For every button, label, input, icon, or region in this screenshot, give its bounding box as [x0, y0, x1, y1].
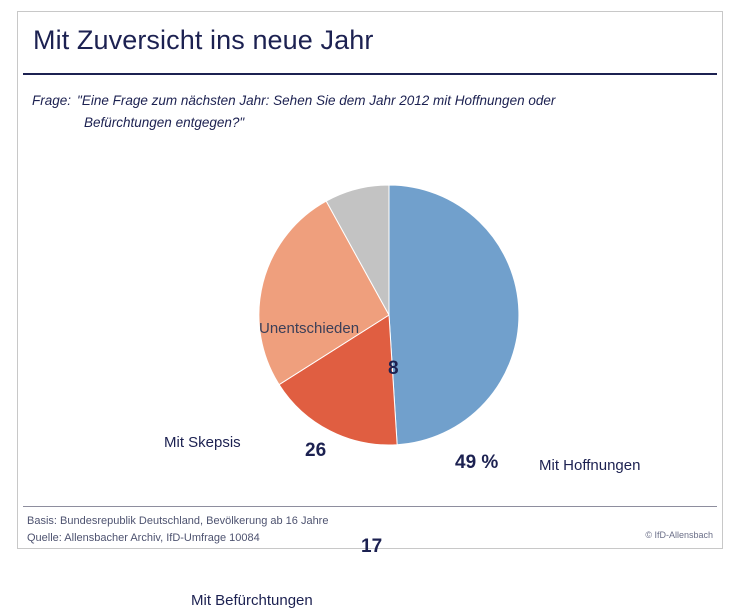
pie-graphic	[258, 184, 520, 446]
chart-card: Mit Zuversicht ins neue Jahr Frage:"Eine…	[17, 11, 723, 549]
pie-chart: 49 % 17 26 8 Mit Hoffnungen Mit Befürcht…	[18, 152, 724, 500]
question-text: Frage:"Eine Frage zum nächsten Jahr: Seh…	[32, 90, 702, 135]
pie-label-mit-befuerchtungen: Mit Befürchtungen	[191, 592, 313, 609]
pie-value-mit-skepsis: 26	[305, 440, 326, 462]
pie-value-mit-hoffnungen: 49 %	[455, 452, 498, 474]
question-label: Frage:	[32, 93, 71, 108]
footer-source-block: Basis: Bundesrepublik Deutschland, Bevöl…	[27, 513, 328, 547]
pie-svg	[258, 184, 520, 446]
footer-quelle: Quelle: Allensbacher Archiv, IfD-Umfrage…	[27, 530, 328, 547]
footer-divider	[23, 506, 717, 507]
pie-label-mit-hoffnungen: Mit Hoffnungen	[539, 457, 640, 474]
footer: Basis: Bundesrepublik Deutschland, Bevöl…	[27, 513, 715, 547]
question-line-1: "Eine Frage zum nächsten Jahr: Sehen Sie…	[77, 93, 555, 108]
pie-value-unentschieden: 8	[388, 358, 399, 380]
footer-copyright: © IfD-Allensbach	[645, 530, 713, 540]
pie-label-mit-skepsis: Mit Skepsis	[164, 434, 241, 451]
question-line-2: Befürchtungen entgegen?"	[32, 112, 702, 134]
footer-basis: Basis: Bundesrepublik Deutschland, Bevöl…	[27, 513, 328, 530]
title-divider	[23, 73, 717, 75]
pie-slice-mit-hoffnungen	[389, 185, 519, 445]
pie-label-unentschieden: Unentschieden	[259, 320, 359, 337]
page-title: Mit Zuversicht ins neue Jahr	[33, 25, 373, 56]
